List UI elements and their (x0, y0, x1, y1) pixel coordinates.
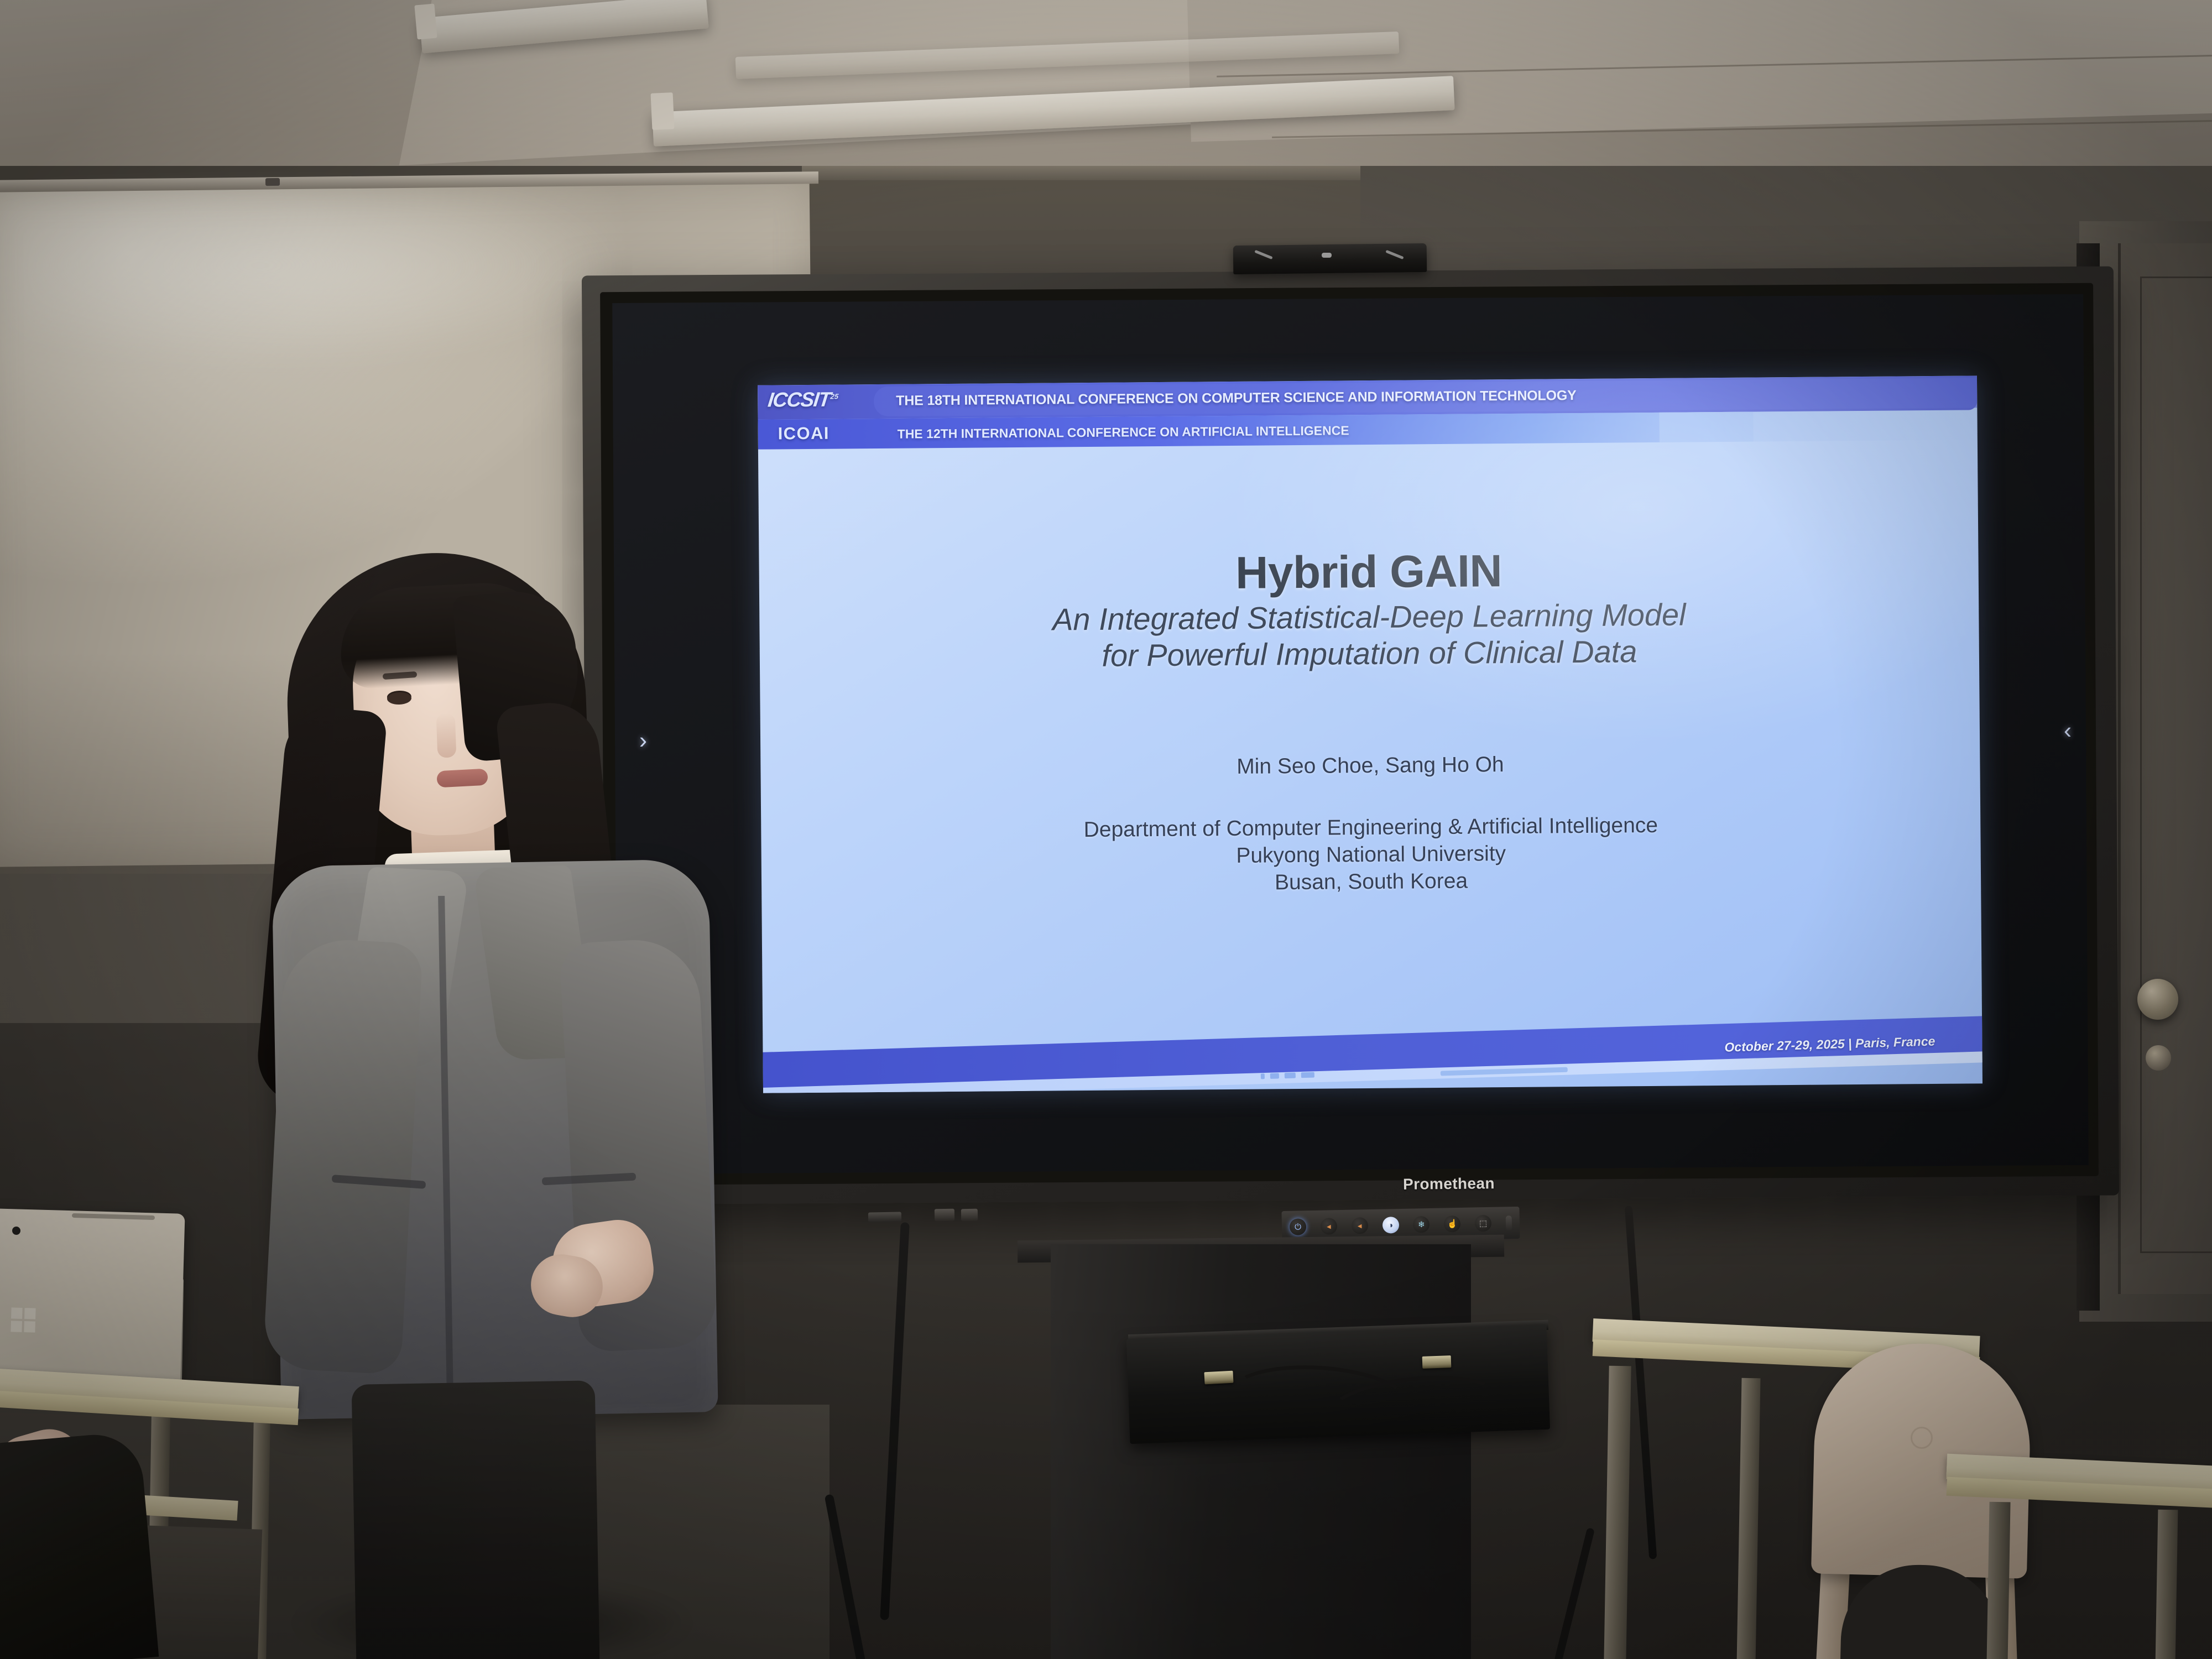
input-source-button[interactable]: ⬚ (1475, 1215, 1492, 1232)
camera-sensor-bar (1233, 243, 1427, 274)
chair-dimple (1911, 1427, 1933, 1449)
presentation-slide: ICCSIT25 THE 18TH INTERNATIONAL CONFEREN… (758, 375, 1983, 1093)
icoai-logo: ICOAI (778, 423, 883, 444)
surface-tablet[interactable] (0, 1208, 185, 1396)
iccsit-logo: ICCSIT25 (766, 388, 880, 416)
presenter-trousers (352, 1380, 600, 1659)
whiteboard-rail-clip (265, 178, 280, 186)
attendee-arm (0, 1431, 159, 1659)
power-button[interactable]: ⏻ (1290, 1218, 1307, 1235)
ir-receiver-icon (1506, 1215, 1512, 1230)
presenter-mouth (436, 769, 488, 788)
volume-up-button[interactable]: ◂ (1351, 1217, 1368, 1234)
display-stand-column (1051, 1244, 1471, 1659)
camera-lens-icon (1322, 253, 1332, 258)
hdmi-connector[interactable] (1422, 1355, 1452, 1369)
windows-logo-icon (11, 1307, 35, 1332)
desk-leg (2156, 1510, 2178, 1659)
touch-button[interactable]: ☝ (1444, 1215, 1461, 1233)
presenter-sleeve (263, 937, 423, 1375)
whiteboard-glare (17, 199, 625, 365)
slide-authors: Min Seo Choe, Sang Ho Oh (760, 749, 1980, 782)
chevron-left-icon[interactable]: ‹ (2064, 719, 2072, 742)
slide-title: Hybrid GAIN (759, 541, 1979, 603)
light-end-cap (651, 92, 675, 130)
volume-down-button[interactable]: ◂ (1321, 1218, 1338, 1235)
door-knob[interactable] (2137, 979, 2178, 1020)
display-usb-port[interactable] (935, 1209, 954, 1222)
lecture-room-photo: ICCSIT25 THE 18TH INTERNATIONAL CONFEREN… (0, 0, 2212, 1659)
display-hdmi-port[interactable] (961, 1209, 978, 1222)
menu-button[interactable]: ◑ (1382, 1217, 1399, 1234)
promethean-brand-label: Promethean (1338, 1174, 1559, 1194)
iccsit-logo-text: ICCSIT (766, 388, 831, 411)
desk-leg (1986, 1502, 2010, 1659)
door-lock-icon[interactable] (2146, 1045, 2171, 1071)
slide-subtitle: An Integrated Statistical-Deep Learning … (759, 594, 1979, 676)
hdmi-connector[interactable] (1204, 1371, 1233, 1385)
presenter-nose (436, 713, 457, 758)
slide-affiliation: Department of Computer Engineering & Art… (761, 810, 1981, 900)
screen-glare (758, 375, 1983, 1093)
freeze-button[interactable]: ❄ (1413, 1216, 1430, 1233)
light-end-cap (414, 4, 437, 40)
display-port-cluster[interactable] (868, 1212, 901, 1222)
iccsit-logo-superscript: 25 (830, 392, 839, 400)
door-panel-inset (2140, 276, 2212, 1253)
